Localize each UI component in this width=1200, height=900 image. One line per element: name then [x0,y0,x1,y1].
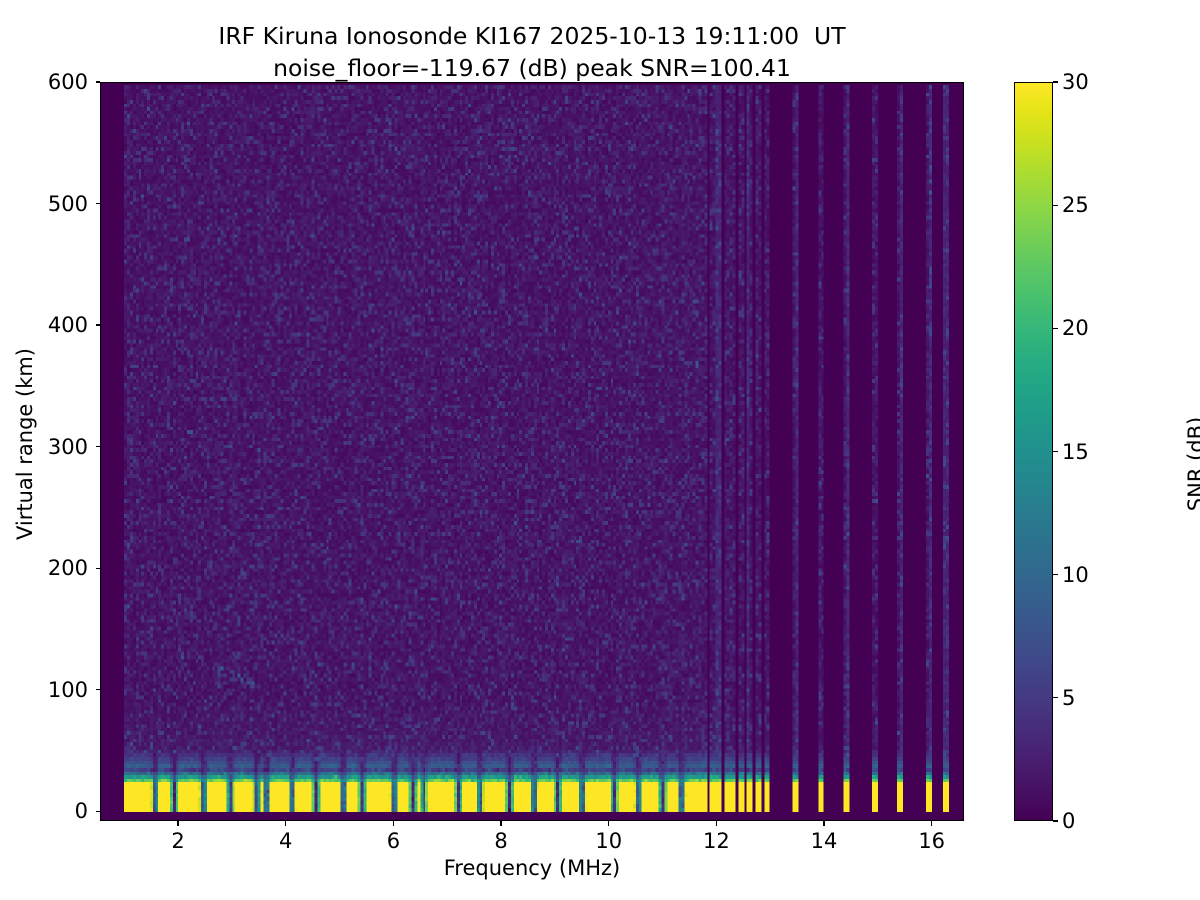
y-tick-0 [96,811,101,812]
x-tick-12 [716,821,717,826]
x-tick-label-2: 2 [171,829,184,853]
colorbar-tick-label-5: 5 [1062,686,1075,710]
ionogram-plot-area [100,82,964,821]
colorbar-tick-label-20: 20 [1062,316,1089,340]
colorbar-tick-label-0: 0 [1062,809,1075,833]
x-tick-14 [823,821,824,826]
x-tick-label-16: 16 [918,829,945,853]
x-tick-label-14: 14 [811,829,838,853]
x-tick-label-6: 6 [387,829,400,853]
colorbar-tick-10 [1053,574,1058,575]
x-tick-8 [500,821,501,826]
colorbar-tick-label-25: 25 [1062,193,1089,217]
colorbar-tick-20 [1053,328,1058,329]
colorbar-tick-label-10: 10 [1062,563,1089,587]
colorbar-gradient [1015,83,1052,820]
colorbar-tick-30 [1053,81,1058,82]
chart-title: IRF Kiruna Ionosonde KI167 2025-10-13 19… [0,20,1064,84]
colorbar-tick-0 [1053,820,1058,821]
snr-colorbar [1014,82,1053,821]
x-tick-2 [177,821,178,826]
ionogram-heatmap-canvas [101,83,963,820]
x-tick-4 [285,821,286,826]
x-tick-label-4: 4 [279,829,292,853]
colorbar-label: SNR (dB) [1184,94,1200,834]
y-tick-300 [96,446,101,447]
colorbar-tick-label-30: 30 [1062,70,1089,94]
x-axis-label: Frequency (MHz) [100,856,964,880]
x-tick-label-8: 8 [494,829,507,853]
ionogram-figure: IRF Kiruna Ionosonde KI167 2025-10-13 19… [0,0,1200,900]
y-tick-400 [96,324,101,325]
colorbar-tick-25 [1053,205,1058,206]
x-tick-label-12: 12 [703,829,730,853]
colorbar-tick-5 [1053,697,1058,698]
y-tick-100 [96,689,101,690]
x-tick-label-10: 10 [595,829,622,853]
x-tick-6 [393,821,394,826]
y-tick-200 [96,568,101,569]
colorbar-tick-15 [1053,451,1058,452]
chart-title-line-2: noise_floor=-119.67 (dB) peak SNR=100.41 [0,52,1064,84]
y-tick-600 [96,81,101,82]
x-tick-10 [608,821,609,826]
y-axis-label: Virtual range (km) [13,74,37,814]
y-tick-500 [96,203,101,204]
x-tick-16 [931,821,932,826]
colorbar-tick-label-15: 15 [1062,440,1089,464]
chart-title-line-1: IRF Kiruna Ionosonde KI167 2025-10-13 19… [0,20,1064,52]
